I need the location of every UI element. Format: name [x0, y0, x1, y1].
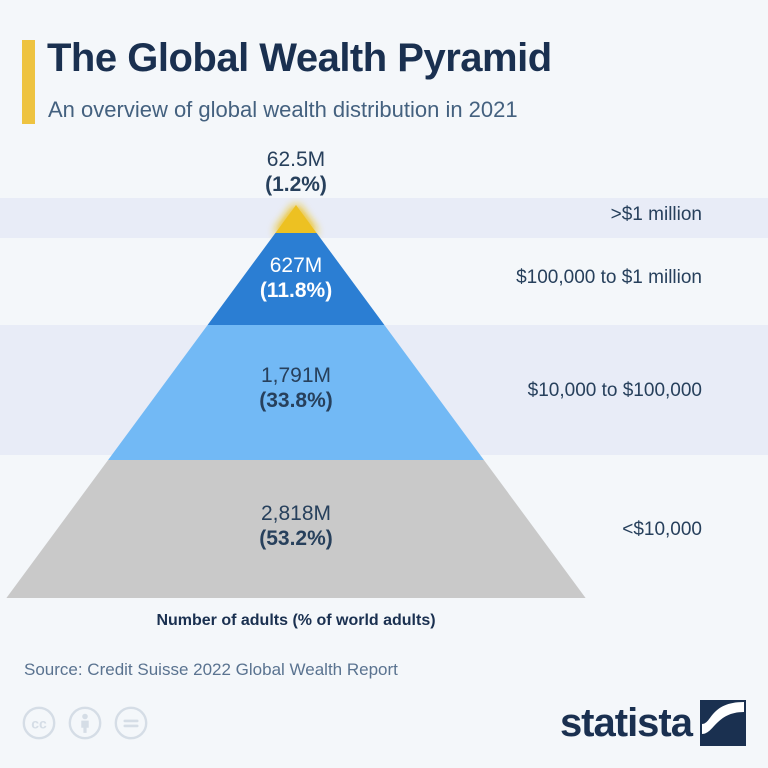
- statista-mark-icon: [700, 700, 746, 746]
- cc-by-person-icon: [68, 706, 102, 740]
- title-accent-bar: [22, 40, 35, 124]
- wealth-pyramid-chart: 62.5M (1.2%) 627M (11.8%) 1,791M (33.8%)…: [0, 140, 768, 610]
- infographic-header: The Global Wealth Pyramid An overview of…: [0, 0, 768, 140]
- range-label-tier-3: $10,000 to $100,000: [528, 380, 702, 402]
- license-icon-group: cc: [22, 706, 148, 740]
- tier-3-value-label: 1,791M (33.8%): [259, 364, 333, 414]
- tier-1-value: 62.5M: [265, 148, 327, 173]
- tier-4-value: 2,818M: [259, 502, 333, 527]
- cc-icon: cc: [22, 706, 56, 740]
- value-axis-caption: Number of adults (% of world adults): [0, 612, 592, 630]
- tier-2-value: 627M: [260, 254, 332, 279]
- pyramid-tier-1-shape: [275, 205, 316, 233]
- range-label-tier-1: >$1 million: [611, 204, 702, 226]
- cc-nd-equals-icon: [114, 706, 148, 740]
- tier-4-percent: (53.2%): [259, 527, 333, 552]
- tier-3-percent: (33.8%): [259, 389, 333, 414]
- source-note: Source: Credit Suisse 2022 Global Wealth…: [24, 660, 398, 680]
- tier-1-percent: (1.2%): [265, 173, 327, 198]
- tier-3-value: 1,791M: [259, 364, 333, 389]
- page-title: The Global Wealth Pyramid: [47, 36, 552, 81]
- tier-2-value-label: 627M (11.8%): [260, 254, 332, 304]
- svg-text:cc: cc: [31, 716, 47, 732]
- statista-wordmark: statista: [560, 703, 692, 743]
- statista-logo: statista: [560, 700, 746, 746]
- tier-4-value-label: 2,818M (53.2%): [259, 502, 333, 552]
- tier-2-percent: (11.8%): [260, 279, 332, 304]
- range-label-tier-2: $100,000 to $1 million: [516, 267, 702, 289]
- range-label-tier-4: <$10,000: [622, 519, 702, 541]
- page-subtitle: An overview of global wealth distributio…: [48, 97, 518, 123]
- tier-1-value-label: 62.5M (1.2%): [265, 148, 327, 198]
